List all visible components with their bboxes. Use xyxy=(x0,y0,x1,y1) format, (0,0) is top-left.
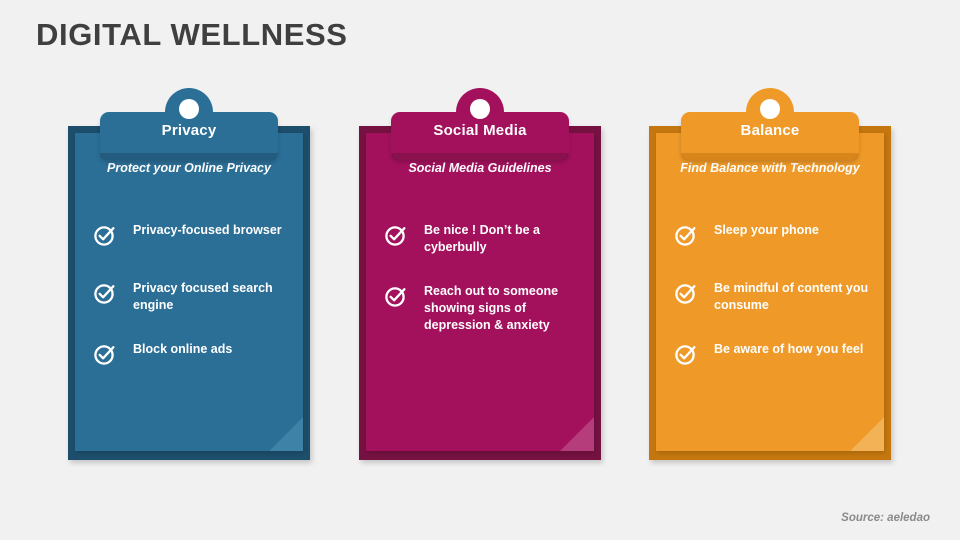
clip-bar: Social Media xyxy=(391,112,569,160)
list-item[interactable]: Sleep your phone xyxy=(674,221,874,253)
clipboard-clip: Privacy xyxy=(68,88,310,160)
source-credit: Source: aeledao xyxy=(841,512,930,524)
clipboard-clip: Social Media xyxy=(359,88,601,160)
list-item-label: Be aware of how you feel xyxy=(714,340,863,358)
list-item[interactable]: Reach out to someone showing signs of de… xyxy=(384,282,584,334)
clip-bar-shade xyxy=(681,153,859,160)
list-item-label: Reach out to someone showing signs of de… xyxy=(424,282,584,334)
clipboard-card-social-media[interactable]: Social Media Guidelines Be nice ! Don’t … xyxy=(359,88,601,460)
list-item-label: Block online ads xyxy=(133,340,232,358)
board-paper: Social Media Guidelines Be nice ! Don’t … xyxy=(366,133,594,451)
clipboard-card-balance[interactable]: Find Balance with Technology Sleep your … xyxy=(649,88,891,460)
card-title: Balance xyxy=(681,122,859,139)
clip-bar: Privacy xyxy=(100,112,278,160)
card-subtitle: Social Media Guidelines xyxy=(380,160,580,177)
check-circle-icon xyxy=(384,223,408,247)
card-title: Social Media xyxy=(391,122,569,139)
check-circle-icon xyxy=(93,342,117,366)
clip-bar-shade xyxy=(100,153,278,160)
clip-bar-shade xyxy=(391,153,569,160)
check-circle-icon xyxy=(384,284,408,308)
list-item-label: Be mindful of content you consume xyxy=(714,279,874,314)
page-fold-flap xyxy=(269,417,303,451)
board-paper: Protect your Online Privacy Privacy-focu… xyxy=(75,133,303,451)
clip-hole-icon xyxy=(470,99,490,119)
list-item[interactable]: Privacy focused search engine xyxy=(93,279,293,314)
page-title: DIGITAL WELLNESS xyxy=(36,17,348,53)
check-circle-icon xyxy=(93,223,117,247)
paper-content: Protect your Online Privacy Privacy-focu… xyxy=(75,133,303,451)
board-paper: Find Balance with Technology Sleep your … xyxy=(656,133,884,451)
list-item[interactable]: Be mindful of content you consume xyxy=(674,279,874,314)
check-circle-icon xyxy=(674,223,698,247)
paper-content: Find Balance with Technology Sleep your … xyxy=(656,133,884,451)
clipboard-clip: Balance xyxy=(649,88,891,160)
page-fold-flap xyxy=(850,417,884,451)
card-subtitle: Find Balance with Technology xyxy=(670,160,870,177)
clip-hole-icon xyxy=(179,99,199,119)
clipboard-card-privacy[interactable]: Protect your Online Privacy Privacy-focu… xyxy=(68,88,310,460)
list-item[interactable]: Block online ads xyxy=(93,340,293,372)
clip-bar: Balance xyxy=(681,112,859,160)
page-fold-flap xyxy=(560,417,594,451)
card-title: Privacy xyxy=(100,122,278,139)
bullet-list: Be nice ! Don’t be a cyberbully Reach ou… xyxy=(384,221,584,360)
slide-canvas: DIGITAL WELLNESS Protect your Online Pri… xyxy=(0,0,960,540)
check-circle-icon xyxy=(674,281,698,305)
list-item-label: Sleep your phone xyxy=(714,221,819,239)
list-item-label: Be nice ! Don’t be a cyberbully xyxy=(424,221,584,256)
list-item[interactable]: Be nice ! Don’t be a cyberbully xyxy=(384,221,584,256)
paper-content: Social Media Guidelines Be nice ! Don’t … xyxy=(366,133,594,451)
list-item-label: Privacy focused search engine xyxy=(133,279,293,314)
bullet-list: Sleep your phone Be mindful of content y… xyxy=(674,221,874,398)
clip-hole-icon xyxy=(760,99,780,119)
bullet-list: Privacy-focused browser Privacy focused … xyxy=(93,221,293,398)
list-item[interactable]: Privacy-focused browser xyxy=(93,221,293,253)
check-circle-icon xyxy=(93,281,117,305)
card-subtitle: Protect your Online Privacy xyxy=(89,160,289,177)
list-item-label: Privacy-focused browser xyxy=(133,221,282,239)
list-item[interactable]: Be aware of how you feel xyxy=(674,340,874,372)
check-circle-icon xyxy=(674,342,698,366)
